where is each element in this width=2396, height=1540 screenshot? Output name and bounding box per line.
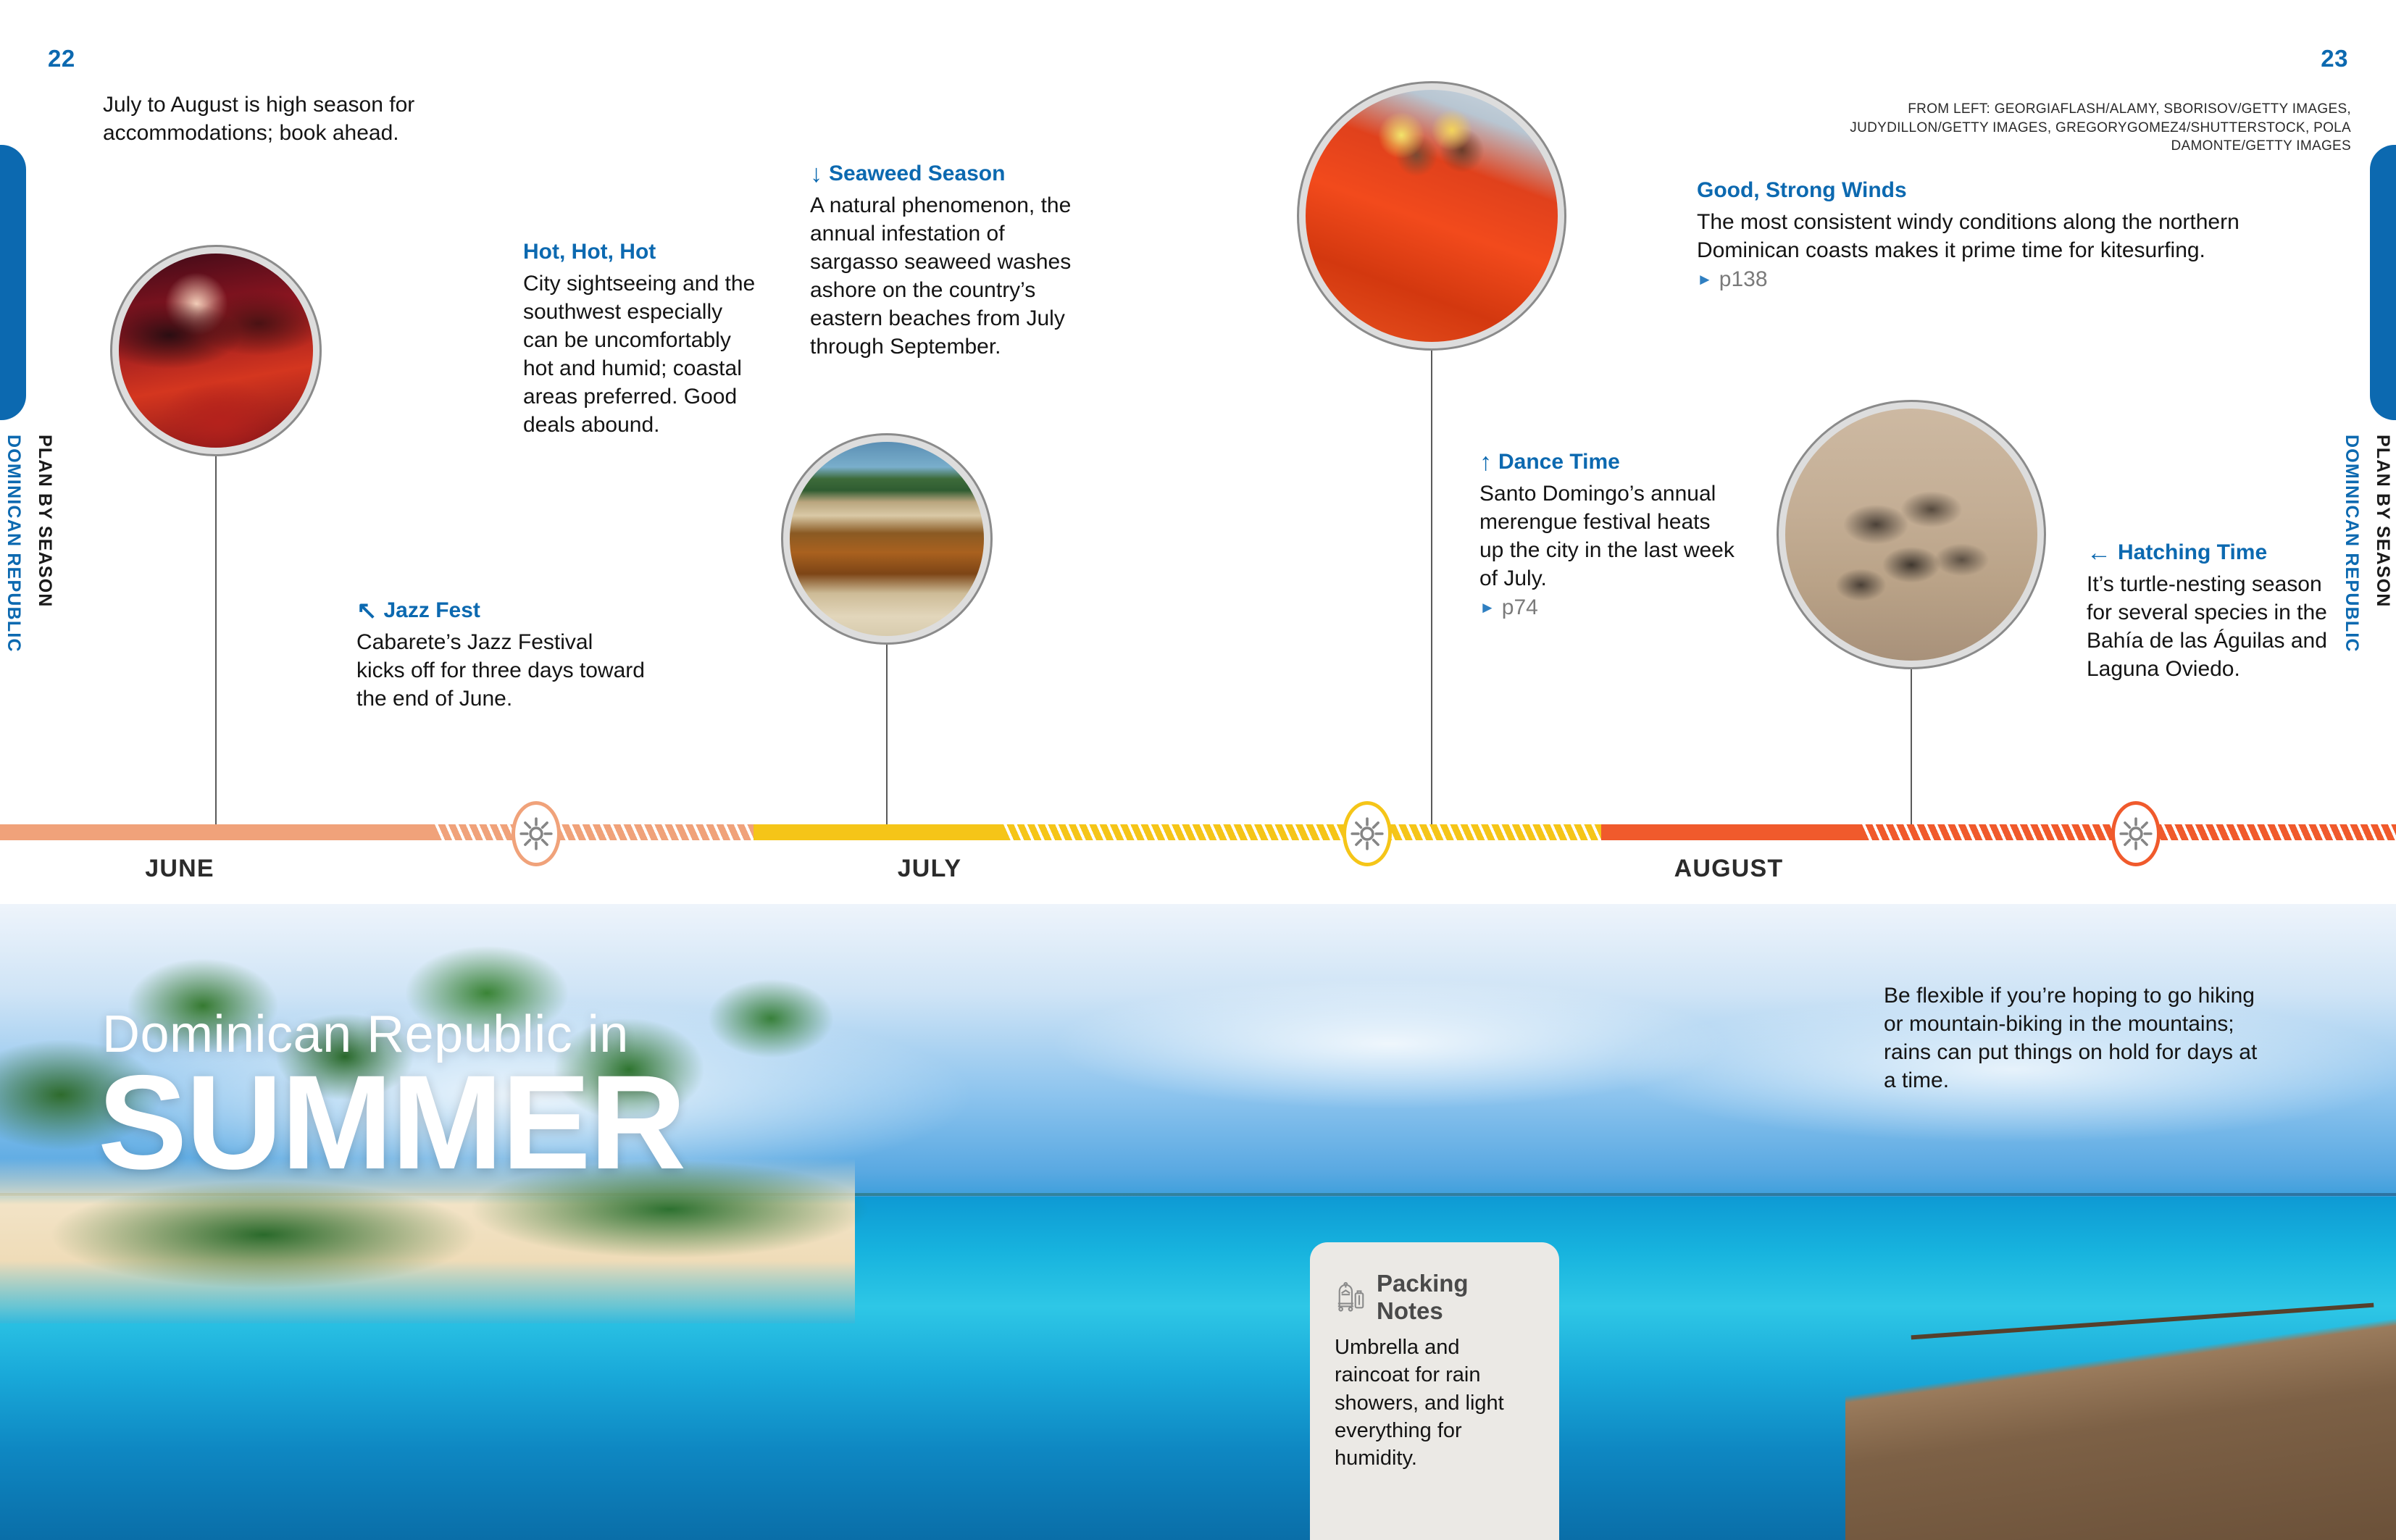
timeline-month-august: AUGUST — [1674, 855, 1784, 883]
timeline-sun-node-june — [512, 801, 561, 866]
leader-line-turtle — [1911, 669, 1912, 826]
photo-jazz-drummer — [110, 245, 322, 456]
note-seaweed-body: A natural phenomenon, the annual infesta… — [810, 191, 1093, 361]
timeline-sun-node-august — [2111, 801, 2161, 866]
side-rail-brand-left: DOMINICAN REPUBLIC — [3, 435, 24, 653]
note-jazz-title: Jazz Fest — [384, 598, 480, 624]
side-tab-right — [2370, 145, 2396, 420]
hero-dock — [1845, 1235, 2396, 1540]
note-seaweed-title: Seaweed Season — [829, 161, 1005, 187]
triangle-right-icon: ► — [1697, 272, 1713, 288]
timeline-month-july: JULY — [898, 855, 962, 883]
note-winds-body: The most consistent windy conditions alo… — [1697, 208, 2298, 264]
side-rail-section-right: PLAN BY SEASON — [2372, 435, 2393, 653]
side-rail-section-left: PLAN BY SEASON — [34, 435, 55, 653]
note-good-strong-winds: Good, Strong Winds The most consistent w… — [1697, 177, 2298, 292]
note-jazz-fest: ↖ Jazz Fest Cabarete’s Jazz Festival kic… — [356, 598, 646, 713]
photo-merengue-dancers — [1297, 81, 1566, 351]
side-tab-left — [0, 145, 26, 420]
arrow-down-icon: ↓ — [810, 162, 822, 186]
note-be-flexible: Be flexible if you’re hoping to go hikin… — [1884, 982, 2275, 1095]
note-hot-body: City sightseeing and the southwest espec… — [523, 269, 762, 439]
timeline-segment-june-hatch — [435, 824, 754, 840]
arrow-up-icon: ↑ — [1479, 450, 1492, 474]
note-dance-body: Santo Domingo’s annual merengue festival… — [1479, 480, 1740, 593]
page-number-left: 22 — [48, 45, 75, 72]
note-winds-title-row: Good, Strong Winds — [1697, 177, 2298, 204]
note-dance-title: Dance Time — [1498, 449, 1620, 475]
timeline-month-june: JUNE — [145, 855, 214, 883]
side-rail-brand-right: DOMINICAN REPUBLIC — [2341, 435, 2362, 653]
packing-notes-card: Packing Notes Umbrella and raincoat for … — [1310, 1242, 1559, 1540]
arrow-left-icon: ← — [2087, 540, 2111, 565]
note-hot-title: Hot, Hot, Hot — [523, 239, 656, 265]
leader-line-dance — [1431, 351, 1432, 826]
page-title: Dominican Republic in SUMMER — [98, 1010, 685, 1184]
page-number-right: 23 — [2321, 45, 2348, 72]
note-hatching-title-row: ← Hatching Time — [2087, 540, 2333, 566]
note-dance-page-ref[interactable]: ► p74 — [1479, 595, 1740, 620]
note-winds-title: Good, Strong Winds — [1697, 177, 1907, 204]
packing-notes-title: Packing Notes — [1377, 1270, 1535, 1325]
packing-notes-header: Packing Notes — [1335, 1270, 1535, 1325]
photo-turtle-hatchlings — [1777, 400, 2046, 669]
arrow-up-left-icon: ↖ — [356, 598, 377, 623]
leader-line-jazz — [215, 456, 217, 826]
note-seaweed-title-row: ↓ Seaweed Season — [810, 161, 1093, 187]
note-winds-page-ref-label: p138 — [1719, 267, 1768, 292]
note-winds-page-ref[interactable]: ► p138 — [1697, 267, 2298, 292]
note-hot-hot-hot: Hot, Hot, Hot City sightseeing and the s… — [523, 239, 762, 439]
packing-notes-body: Umbrella and raincoat for rain showers, … — [1335, 1334, 1535, 1472]
timeline-segment-july-solid — [754, 824, 1003, 840]
timeline-segment-august-solid — [1601, 824, 1862, 840]
note-hot-title-row: Hot, Hot, Hot — [523, 239, 762, 265]
note-dance-time: ↑ Dance Time Santo Domingo’s annual mere… — [1479, 449, 1740, 620]
hero-palm-trees — [0, 904, 1014, 1540]
triangle-right-icon: ► — [1479, 600, 1495, 616]
photo-sargasso-beach — [781, 433, 993, 645]
page-title-line2: SUMMER — [98, 1061, 685, 1184]
note-hatching-body: It’s turtle-nesting season for several s… — [2087, 570, 2333, 683]
note-seaweed-season: ↓ Seaweed Season A natural phenomenon, t… — [810, 161, 1093, 361]
luggage-cart-icon — [1335, 1281, 1368, 1313]
note-dance-page-ref-label: p74 — [1502, 595, 1538, 620]
note-dance-title-row: ↑ Dance Time — [1479, 449, 1740, 475]
intro-note: July to August is high season for accomm… — [103, 91, 443, 147]
leader-line-seaweed — [886, 645, 888, 826]
note-hatching-title: Hatching Time — [2118, 540, 2267, 566]
spread-page: 22 23 DOMINICAN REPUBLIC PLAN BY SEASON … — [0, 0, 2396, 1540]
note-hatching-time: ← Hatching Time It’s turtle-nesting seas… — [2087, 540, 2333, 683]
timeline-sun-node-july — [1343, 801, 1392, 866]
photo-credits: FROM LEFT: GEORGIAFLASH/ALAMY, SBORISOV/… — [1771, 100, 2351, 156]
timeline-segment-june-solid — [0, 824, 435, 840]
note-jazz-body: Cabarete’s Jazz Festival kicks off for t… — [356, 628, 646, 713]
note-jazz-title-row: ↖ Jazz Fest — [356, 598, 646, 624]
timeline-segment-july-hatch — [1003, 824, 1601, 840]
